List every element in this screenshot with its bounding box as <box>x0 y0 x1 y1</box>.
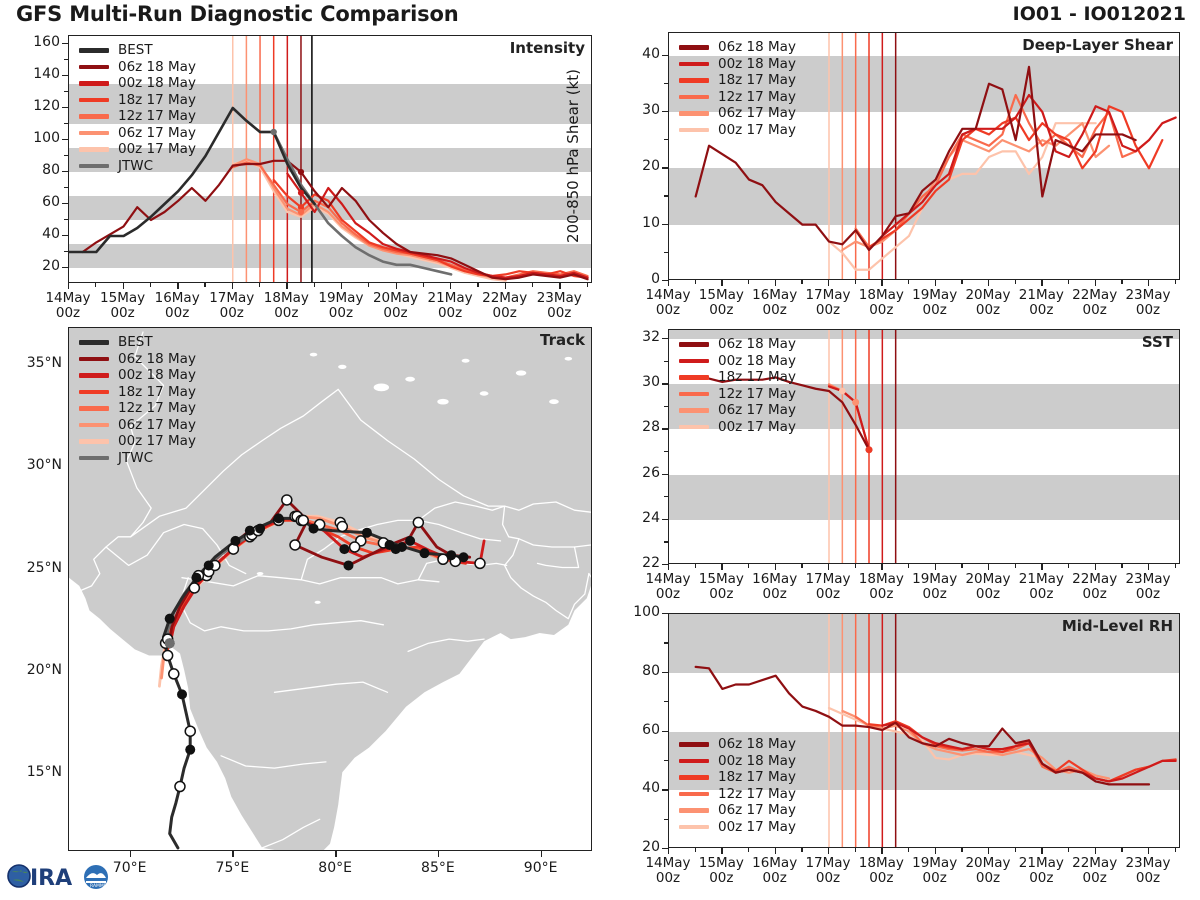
series-line <box>829 708 1042 759</box>
x-axis-tick-label: 14May00z <box>628 856 708 886</box>
legend-color-swatch <box>679 808 709 813</box>
longitude-tick-label: 80°E <box>295 860 375 876</box>
x-tick-day: 23May <box>1125 571 1170 587</box>
legend-item: 12z 17 May <box>79 400 196 417</box>
y-axis-tick-label: 80 <box>616 663 660 679</box>
legend-color-swatch <box>679 792 709 797</box>
y-axis-tick-label: 40 <box>616 46 660 62</box>
x-axis-tick-mark <box>828 564 829 570</box>
legend-color-swatch <box>679 95 709 100</box>
legend-label: 00z 17 May <box>118 141 196 157</box>
track-position-marker <box>339 544 349 554</box>
legend-label: 00z 17 May <box>718 419 796 435</box>
legend-label: BEST <box>118 42 153 58</box>
x-axis-minor-tick <box>204 283 205 287</box>
x-axis-minor-tick <box>1068 848 1069 852</box>
legend-label: 00z 17 May <box>718 122 796 138</box>
track-position-marker <box>290 540 300 550</box>
x-tick-hour: 00z <box>976 586 1000 602</box>
x-tick-day: 19May <box>912 287 957 303</box>
intensity-plot-area[interactable]: IntensityBEST06z 18 May00z 18 May18z 17 … <box>68 35 592 283</box>
x-tick-hour: 00z <box>1029 302 1053 318</box>
rh-plot-area[interactable]: Mid-Level RH06z 18 May00z 18 May18z 17 M… <box>668 613 1180 848</box>
y-axis-tick-label: 100 <box>616 604 660 620</box>
x-axis-tick-label: 14May00z <box>628 572 708 602</box>
x-axis-tick-mark <box>668 564 669 570</box>
svg-text:RAMMB: RAMMB <box>90 883 107 889</box>
legend-color-swatch <box>679 342 709 347</box>
track-position-marker <box>245 526 255 536</box>
x-axis-minor-tick <box>95 283 96 287</box>
x-axis-tick-label: 22May00z <box>1055 572 1135 602</box>
x-tick-hour: 00z <box>1083 870 1107 886</box>
sst-legend: 06z 18 May00z 18 May18z 17 May12z 17 May… <box>679 336 796 435</box>
track-position-marker <box>185 726 195 736</box>
x-tick-hour: 00z <box>976 302 1000 318</box>
legend-color-swatch <box>679 128 709 133</box>
x-tick-hour: 00z <box>869 302 893 318</box>
x-axis-tick-label: 17May00z <box>788 288 868 318</box>
x-axis-minor-tick <box>1015 564 1016 568</box>
x-axis-tick-mark <box>935 848 936 854</box>
series-line <box>274 180 588 278</box>
x-axis-tick-mark <box>1148 564 1149 570</box>
legend-color-swatch <box>79 406 109 411</box>
x-tick-hour: 00z <box>763 586 787 602</box>
x-tick-hour: 00z <box>220 305 244 321</box>
y-axis-tick-mark <box>662 564 668 565</box>
legend-color-swatch <box>79 48 109 53</box>
legend-item: BEST <box>79 334 196 351</box>
y-axis-tick-label: 80 <box>16 162 60 178</box>
x-tick-hour: 00z <box>816 302 840 318</box>
legend-label: 06z 17 May <box>118 417 196 433</box>
x-axis-tick-label: 14May00z <box>628 288 708 318</box>
x-axis-tick-mark <box>668 848 669 854</box>
shear-panel-label: Deep-Layer Shear <box>1022 36 1173 54</box>
x-tick-day: 16May <box>752 287 797 303</box>
y-axis-tick-label: 28 <box>616 419 660 435</box>
x-axis-minor-tick <box>259 283 260 287</box>
x-tick-hour: 00z <box>438 305 462 321</box>
legend-item: BEST <box>79 42 196 59</box>
legend-label: 18z 17 May <box>718 72 796 88</box>
rh-legend: 06z 18 May00z 18 May18z 17 May12z 17 May… <box>679 736 796 835</box>
track-position-marker <box>274 513 284 523</box>
x-axis-minor-tick <box>961 564 962 568</box>
longitude-tick-mark <box>232 851 233 857</box>
x-axis-tick-label: 16May00z <box>735 572 815 602</box>
legend-label: 18z 17 May <box>718 369 796 385</box>
page-title: GFS Multi-Run Diagnostic Comparison <box>16 2 458 26</box>
x-axis-minor-tick <box>1015 848 1016 852</box>
legend-item: 00z 18 May <box>79 367 196 384</box>
y-axis-tick-label: 30 <box>616 374 660 390</box>
x-axis-tick-mark <box>988 848 989 854</box>
x-tick-day: 20May <box>965 855 1010 871</box>
x-tick-day: 17May <box>805 571 850 587</box>
x-axis-minor-tick <box>532 283 533 287</box>
x-tick-day: 18May <box>859 855 904 871</box>
legend-item: 06z 18 May <box>79 59 196 76</box>
map-lake <box>480 391 489 395</box>
legend-color-swatch <box>679 742 709 747</box>
x-axis-tick-label: 20May00z <box>948 572 1028 602</box>
x-axis-tick-label: 15May00z <box>681 288 761 318</box>
x-axis-tick-label: 19May00z <box>895 288 975 318</box>
x-tick-day: 14May <box>645 571 690 587</box>
x-axis-tick-mark <box>828 848 829 854</box>
legend-item: 12z 17 May <box>679 786 796 803</box>
x-tick-hour: 00z <box>763 302 787 318</box>
legend-color-swatch <box>79 423 109 428</box>
legend-label: 12z 17 May <box>118 108 196 124</box>
x-axis-tick-mark <box>396 283 397 289</box>
x-axis-minor-tick <box>961 280 962 284</box>
y-axis-tick-label: 140 <box>16 66 60 82</box>
x-axis-minor-tick <box>695 280 696 284</box>
x-axis-minor-tick <box>908 848 909 852</box>
x-tick-day: 20May <box>965 571 1010 587</box>
legend-color-swatch <box>679 408 709 413</box>
legend-label: 12z 17 May <box>118 400 196 416</box>
legend-item: 06z 18 May <box>679 736 796 753</box>
x-axis-minor-tick <box>314 283 315 287</box>
x-axis-minor-tick <box>1068 280 1069 284</box>
x-tick-day: 14May <box>645 855 690 871</box>
legend-color-swatch <box>79 456 109 461</box>
x-tick-day: 21May <box>428 290 473 306</box>
legend-label: JTWC <box>118 158 153 174</box>
x-tick-hour: 00z <box>869 586 893 602</box>
x-axis-tick-mark <box>668 280 669 286</box>
x-axis-tick-mark <box>988 280 989 286</box>
y-axis-tick-label: 40 <box>616 780 660 796</box>
legend-color-swatch <box>79 65 109 70</box>
y-axis-tick-label: 100 <box>16 130 60 146</box>
sst-panel-label: SST <box>1142 333 1173 351</box>
y-axis-tick-label: 26 <box>616 465 660 481</box>
legend-label: JTWC <box>118 450 153 466</box>
legend-color-swatch <box>679 45 709 50</box>
x-tick-day: 19May <box>318 290 363 306</box>
x-axis-tick-mark <box>828 280 829 286</box>
x-axis-tick-label: 21May00z <box>410 291 490 321</box>
x-tick-hour: 00z <box>869 870 893 886</box>
x-tick-day: 17May <box>805 287 850 303</box>
legend-label: 18z 17 May <box>118 384 196 400</box>
x-axis-tick-mark <box>1041 564 1042 570</box>
x-axis-tick-mark <box>935 564 936 570</box>
x-axis-tick-label: 19May00z <box>301 291 381 321</box>
x-tick-day: 15May <box>699 287 744 303</box>
x-tick-hour: 00z <box>923 302 947 318</box>
x-tick-hour: 00z <box>274 305 298 321</box>
latitude-tick-label: 20°N <box>10 662 62 678</box>
legend-color-swatch <box>79 357 109 362</box>
x-tick-day: 21May <box>1019 571 1064 587</box>
x-tick-hour: 00z <box>656 586 680 602</box>
x-tick-day: 15May <box>100 290 145 306</box>
x-tick-hour: 00z <box>1083 586 1107 602</box>
y-axis-tick-label: 30 <box>616 102 660 118</box>
shear-legend: 06z 18 May00z 18 May18z 17 May12z 17 May… <box>679 39 796 138</box>
legend-color-swatch <box>79 147 109 152</box>
x-axis-tick-mark <box>988 564 989 570</box>
legend-item: 00z 17 May <box>679 819 796 836</box>
x-axis-minor-tick <box>1175 280 1176 284</box>
x-tick-day: 18May <box>264 290 309 306</box>
x-axis-tick-mark <box>881 280 882 286</box>
x-axis-tick-label: 16May00z <box>735 288 815 318</box>
x-axis-minor-tick <box>908 564 909 568</box>
x-tick-day: 14May <box>645 287 690 303</box>
cira-logo: IRA RAMMB <box>6 856 118 896</box>
x-axis-minor-tick <box>1121 564 1122 568</box>
legend-color-swatch <box>679 78 709 83</box>
x-axis-minor-tick <box>801 564 802 568</box>
track-position-marker <box>185 745 195 755</box>
x-axis-tick-mark <box>559 283 560 289</box>
legend-item: 00z 17 May <box>679 419 796 436</box>
y-axis-tick-label: 10 <box>616 215 660 231</box>
x-tick-hour: 00z <box>110 305 134 321</box>
legend-label: 06z 18 May <box>718 336 796 352</box>
track-position-marker <box>189 583 199 593</box>
x-tick-hour: 00z <box>923 870 947 886</box>
x-tick-hour: 00z <box>1136 586 1160 602</box>
x-tick-hour: 00z <box>709 586 733 602</box>
x-axis-tick-label: 16May00z <box>137 291 217 321</box>
x-tick-hour: 00z <box>547 305 571 321</box>
x-tick-hour: 00z <box>816 586 840 602</box>
x-axis-minor-tick <box>368 283 369 287</box>
legend-item: 18z 17 May <box>679 72 796 89</box>
x-tick-day: 18May <box>859 287 904 303</box>
x-axis-minor-tick <box>1175 848 1176 852</box>
x-axis-minor-tick <box>961 848 962 852</box>
legend-label: 00z 18 May <box>718 753 796 769</box>
legend-item: 06z 18 May <box>679 336 796 353</box>
latitude-tick-label: 30°N <box>10 457 62 473</box>
legend-label: 06z 17 May <box>718 802 796 818</box>
map-lake <box>257 572 264 575</box>
track-map-area[interactable]: TrackBEST06z 18 May00z 18 May18z 17 May1… <box>68 327 592 851</box>
shear-plot-area[interactable]: Deep-Layer Shear06z 18 May00z 18 May18z … <box>668 32 1180 280</box>
x-axis-minor-tick <box>695 564 696 568</box>
y-axis-tick-label: 60 <box>16 194 60 210</box>
track-position-marker <box>169 669 179 679</box>
intensity-panel-label: Intensity <box>510 39 585 57</box>
x-tick-hour: 00z <box>165 305 189 321</box>
legend-label: 12z 17 May <box>718 386 796 402</box>
y-axis-tick-label: 24 <box>616 510 660 526</box>
x-axis-tick-mark <box>68 283 69 289</box>
x-axis-tick-mark <box>1095 848 1096 854</box>
legend-item: JTWC <box>79 450 196 467</box>
legend-label: 18z 17 May <box>118 92 196 108</box>
series-point-marker <box>298 190 304 196</box>
y-axis-tick-label: 60 <box>616 722 660 738</box>
legend-label: 06z 17 May <box>118 125 196 141</box>
legend-item: 18z 17 May <box>679 769 796 786</box>
x-axis-tick-label: 23May00z <box>1108 572 1188 602</box>
latitude-tick-label: 25°N <box>10 560 62 576</box>
x-axis-tick-label: 21May00z <box>1001 572 1081 602</box>
x-axis-tick-label: 23May00z <box>1108 856 1188 886</box>
x-axis-minor-tick <box>477 283 478 287</box>
track-position-marker <box>405 536 415 546</box>
x-axis-tick-label: 22May00z <box>465 291 545 321</box>
track-legend: BEST06z 18 May00z 18 May18z 17 May12z 17… <box>79 334 196 466</box>
x-axis-tick-label: 23May00z <box>519 291 599 321</box>
x-tick-day: 16May <box>155 290 200 306</box>
y-axis-tick-label: 160 <box>16 34 60 50</box>
series-point-marker <box>298 209 304 215</box>
map-lake <box>405 377 415 382</box>
track-position-marker <box>309 524 319 534</box>
series-endpoint-marker <box>839 388 846 395</box>
x-tick-hour: 00z <box>383 305 407 321</box>
legend-color-swatch <box>79 114 109 119</box>
x-tick-day: 15May <box>699 855 744 871</box>
x-tick-day: 17May <box>805 855 850 871</box>
x-tick-day: 20May <box>373 290 418 306</box>
x-axis-minor-tick <box>748 280 749 284</box>
legend-item: 00z 18 May <box>679 56 796 73</box>
legend-color-swatch <box>79 373 109 378</box>
x-axis-minor-tick <box>587 283 588 287</box>
legend-item: 18z 17 May <box>79 92 196 109</box>
x-tick-hour: 00z <box>976 870 1000 886</box>
x-tick-hour: 00z <box>56 305 80 321</box>
legend-item: 00z 17 May <box>79 433 196 450</box>
longitude-tick-mark <box>130 851 131 857</box>
x-axis-tick-mark <box>1148 280 1149 286</box>
x-tick-day: 21May <box>1019 855 1064 871</box>
x-axis-tick-mark <box>721 564 722 570</box>
x-axis-tick-label: 23May00z <box>1108 288 1188 318</box>
x-axis-minor-tick <box>1015 280 1016 284</box>
map-lake <box>549 399 559 404</box>
jtwc-marker <box>270 129 276 135</box>
series-endpoint-marker <box>852 399 859 406</box>
x-axis-tick-mark <box>775 848 776 854</box>
x-axis-tick-label: 16May00z <box>735 856 815 886</box>
track-position-marker <box>298 515 308 525</box>
x-axis-tick-label: 17May00z <box>192 291 272 321</box>
x-tick-day: 19May <box>912 855 957 871</box>
x-axis-minor-tick <box>908 280 909 284</box>
x-tick-hour: 00z <box>1029 870 1053 886</box>
x-axis-minor-tick <box>801 848 802 852</box>
longitude-tick-mark <box>541 851 542 857</box>
track-position-marker <box>163 651 173 661</box>
x-axis-tick-mark <box>935 280 936 286</box>
legend-item: 00z 18 May <box>79 75 196 92</box>
legend-item: 06z 18 May <box>679 39 796 56</box>
legend-item: 00z 18 May <box>679 753 796 770</box>
x-tick-hour: 00z <box>709 302 733 318</box>
track-panel-label: Track <box>540 331 585 349</box>
x-tick-day: 23May <box>537 290 582 306</box>
legend-color-swatch <box>679 775 709 780</box>
legend-color-swatch <box>679 375 709 380</box>
x-axis-tick-label: 20May00z <box>356 291 436 321</box>
x-axis-minor-tick <box>748 848 749 852</box>
track-position-marker <box>282 495 292 505</box>
legend-color-swatch <box>679 62 709 67</box>
series-point-marker <box>298 169 304 175</box>
x-tick-hour: 00z <box>656 302 680 318</box>
legend-item: 06z 17 May <box>79 125 196 142</box>
x-axis-minor-tick <box>423 283 424 287</box>
legend-item: 06z 17 May <box>679 402 796 419</box>
legend-label: BEST <box>118 334 153 350</box>
track-position-marker <box>413 517 423 527</box>
x-axis-tick-mark <box>881 848 882 854</box>
series-endpoint-marker <box>866 446 873 453</box>
x-tick-hour: 00z <box>656 870 680 886</box>
storm-id-title: IO01 - IO012021 <box>1013 3 1186 25</box>
track-position-marker <box>343 560 353 570</box>
legend-label: 18z 17 May <box>718 769 796 785</box>
intensity-legend: BEST06z 18 May00z 18 May18z 17 May12z 17… <box>79 42 196 174</box>
x-axis-tick-mark <box>1041 280 1042 286</box>
x-tick-day: 19May <box>912 571 957 587</box>
legend-color-swatch <box>79 164 109 169</box>
x-tick-hour: 00z <box>1136 870 1160 886</box>
legend-item: 00z 17 May <box>79 141 196 158</box>
x-axis-tick-label: 18May00z <box>841 572 921 602</box>
legend-item: 06z 17 May <box>679 105 796 122</box>
track-position-marker <box>459 552 469 562</box>
track-position-marker <box>337 522 347 532</box>
x-tick-day: 20May <box>965 287 1010 303</box>
x-axis-tick-mark <box>775 280 776 286</box>
legend-item: 18z 17 May <box>79 384 196 401</box>
legend-color-swatch <box>79 390 109 395</box>
x-axis-tick-label: 19May00z <box>895 856 975 886</box>
longitude-tick-mark <box>335 851 336 857</box>
legend-color-swatch <box>79 81 109 86</box>
track-position-marker <box>385 540 395 550</box>
legend-label: 00z 18 May <box>718 56 796 72</box>
track-position-marker <box>419 548 429 558</box>
legend-item: 06z 17 May <box>79 417 196 434</box>
map-lake <box>310 353 317 357</box>
map-lake <box>516 370 527 375</box>
x-axis-tick-mark <box>775 564 776 570</box>
series-line <box>882 95 1175 236</box>
track-position-marker <box>446 550 456 560</box>
svg-text:IRA: IRA <box>30 866 72 891</box>
x-axis-minor-tick <box>855 564 856 568</box>
x-tick-hour: 00z <box>763 870 787 886</box>
legend-color-swatch <box>679 825 709 830</box>
sst-plot-area[interactable]: SST06z 18 May00z 18 May18z 17 May12z 17 … <box>668 329 1180 564</box>
x-axis-tick-mark <box>341 283 342 289</box>
legend-item: 18z 17 May <box>679 369 796 386</box>
y-axis-tick-mark <box>662 280 668 281</box>
x-axis-minor-tick <box>1068 564 1069 568</box>
x-axis-tick-mark <box>1095 564 1096 570</box>
map-lake <box>565 357 572 361</box>
map-lake <box>338 365 346 369</box>
track-position-marker <box>230 536 240 546</box>
y-axis-tick-label: 20 <box>616 839 660 855</box>
x-tick-day: 23May <box>1125 855 1170 871</box>
